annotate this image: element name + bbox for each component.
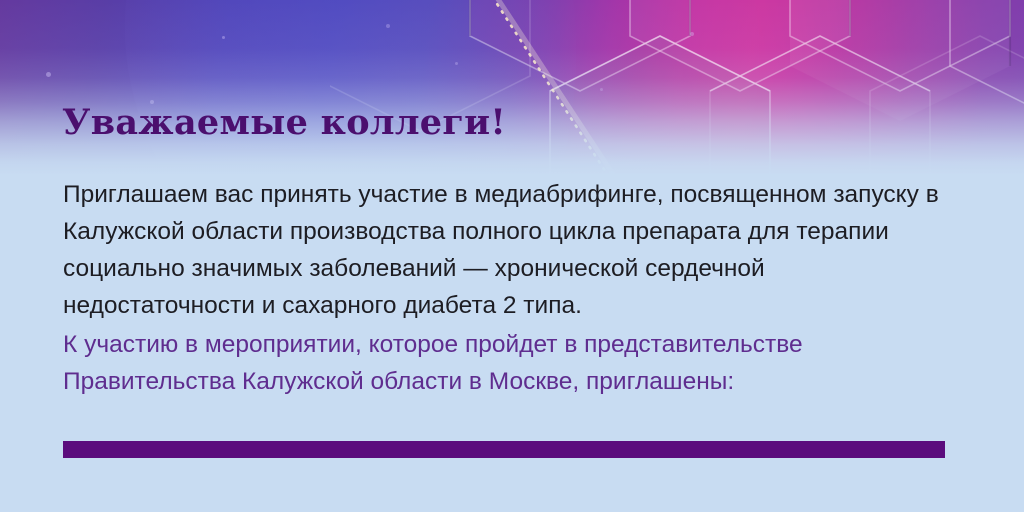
banner-bottom-fade <box>0 0 1024 185</box>
presentation-slide: Уважаемые коллеги! Приглашаем вас принят… <box>0 0 1024 512</box>
header-banner <box>0 0 1024 185</box>
participants-paragraph: К участию в мероприятии, которое пройдет… <box>63 326 953 400</box>
invitation-paragraph: Приглашаем вас принять участие в медиабр… <box>63 176 953 324</box>
divider-bar <box>63 441 945 458</box>
slide-title: Уважаемые коллеги! <box>62 102 506 143</box>
